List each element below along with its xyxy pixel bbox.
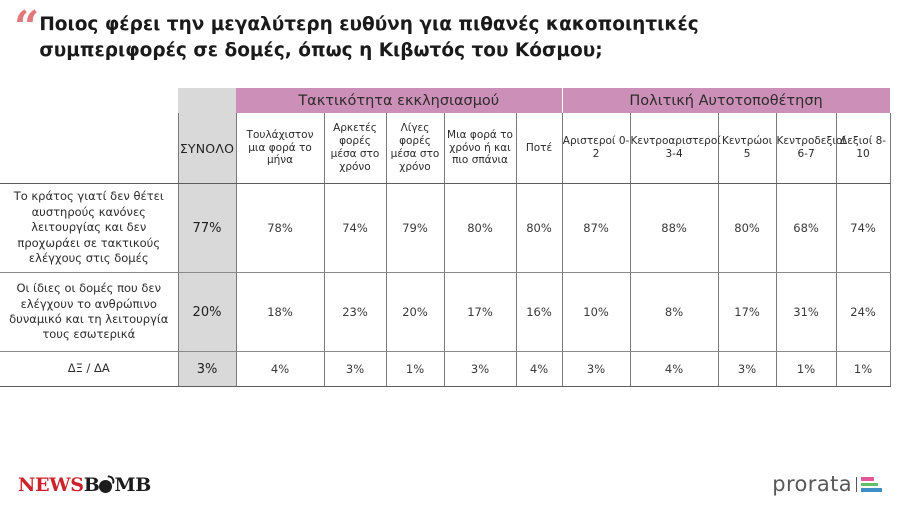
prorata-bars-icon (856, 477, 882, 492)
column-header-once-a-year-or-rarer: Μια φορά το χρόνο ή και πιο σπάνια (444, 113, 516, 184)
cell-value: 88% (630, 184, 718, 273)
column-header-center-right: Κεντροδεξιοί 6-7 (776, 113, 836, 184)
table-row: Οι ίδιες οι δομές που δεν ελέγχουν το αν… (0, 273, 890, 352)
cell-value: 80% (516, 184, 562, 273)
group-header-spacer (0, 88, 178, 113)
newsbomb-logo-news-text: NEWS (18, 474, 84, 496)
cell-value: 80% (444, 184, 516, 273)
cell-value: 16% (516, 273, 562, 352)
cell-value: 1% (386, 352, 444, 387)
column-header-left: Αριστεροί 0-2 (562, 113, 630, 184)
cell-value: 3% (324, 352, 386, 387)
column-header-center: Κεντρώοι 5 (718, 113, 776, 184)
group-header-total-spacer (178, 88, 236, 113)
table-row: Το κράτος γιατί δεν θέτει αυστηρούς κανό… (0, 184, 890, 273)
cell-value: 4% (516, 352, 562, 387)
column-header-at-least-monthly: Τουλάχιστον μια φορά το μήνα (236, 113, 324, 184)
column-header-never: Ποτέ (516, 113, 562, 184)
cell-value: 68% (776, 184, 836, 273)
cell-value: 10% (562, 273, 630, 352)
newsbomb-logo-b-text: B (84, 474, 100, 496)
cell-value: 80% (718, 184, 776, 273)
cell-value: 79% (386, 184, 444, 273)
cell-value: 8% (630, 273, 718, 352)
cell-value: 3% (444, 352, 516, 387)
column-header-right: Δεξιοί 8-10 (836, 113, 890, 184)
row-label-header (0, 113, 178, 184)
cell-value: 20% (386, 273, 444, 352)
cell-value: 24% (836, 273, 890, 352)
cell-value: 78% (236, 184, 324, 273)
newsbomb-logo[interactable]: NEWSBMB (18, 476, 151, 495)
title-block: “ Ποιος φέρει την μεγαλύτερη ευθύνη για … (0, 0, 900, 86)
table-column-header-row: ΣΥΝΟΛΟ Τουλάχιστον μια φορά το μήνα Αρκε… (0, 113, 890, 184)
cell-value: 1% (836, 352, 890, 387)
cell-total: 3% (178, 352, 236, 387)
cell-value: 3% (718, 352, 776, 387)
group-header-political-placement: Πολιτική Αυτοτοποθέτηση (562, 88, 890, 113)
cell-value: 87% (562, 184, 630, 273)
row-label-state-responsibility: Το κράτος γιατί δεν θέτει αυστηρούς κανό… (0, 184, 178, 273)
cell-value: 74% (324, 184, 386, 273)
row-label-dont-know-no-answer: ΔΞ / ΔΑ (0, 352, 178, 387)
poll-results-table: Τακτικότητα εκκλησιασμού Πολιτική Αυτοτο… (0, 88, 891, 387)
cell-value: 1% (776, 352, 836, 387)
column-header-center-left: Κεντροαριστεροί 3-4 (630, 113, 718, 184)
group-header-church-attendance: Τακτικότητα εκκλησιασμού (236, 88, 562, 113)
bomb-icon (99, 478, 114, 493)
column-header-several-times-year: Αρκετές φορές μέσα στο χρόνο (324, 113, 386, 184)
prorata-logo[interactable]: prorata (772, 474, 882, 495)
table-row: ΔΞ / ΔΑ 3% 4% 3% 1% 3% 4% 3% 4% 3% 1% 1% (0, 352, 890, 387)
page-title: Ποιος φέρει την μεγαλύτερη ευθύνη για πι… (39, 0, 769, 63)
table-group-header-row: Τακτικότητα εκκλησιασμού Πολιτική Αυτοτο… (0, 88, 890, 113)
cell-value: 4% (630, 352, 718, 387)
cell-value: 18% (236, 273, 324, 352)
column-header-few-times-year: Λίγες φορές μέσα στο χρόνο (386, 113, 444, 184)
cell-value: 31% (776, 273, 836, 352)
prorata-logo-text: prorata (772, 474, 852, 495)
quote-mark-icon: “ (14, 6, 37, 50)
cell-value: 74% (836, 184, 890, 273)
cell-value: 3% (562, 352, 630, 387)
column-header-total: ΣΥΝΟΛΟ (178, 113, 236, 184)
row-label-structures-responsibility: Οι ίδιες οι δομές που δεν ελέγχουν το αν… (0, 273, 178, 352)
cell-value: 17% (444, 273, 516, 352)
cell-value: 4% (236, 352, 324, 387)
cell-total: 77% (178, 184, 236, 273)
cell-total: 20% (178, 273, 236, 352)
cell-value: 17% (718, 273, 776, 352)
cell-value: 23% (324, 273, 386, 352)
newsbomb-logo-mb-text: MB (114, 474, 151, 496)
